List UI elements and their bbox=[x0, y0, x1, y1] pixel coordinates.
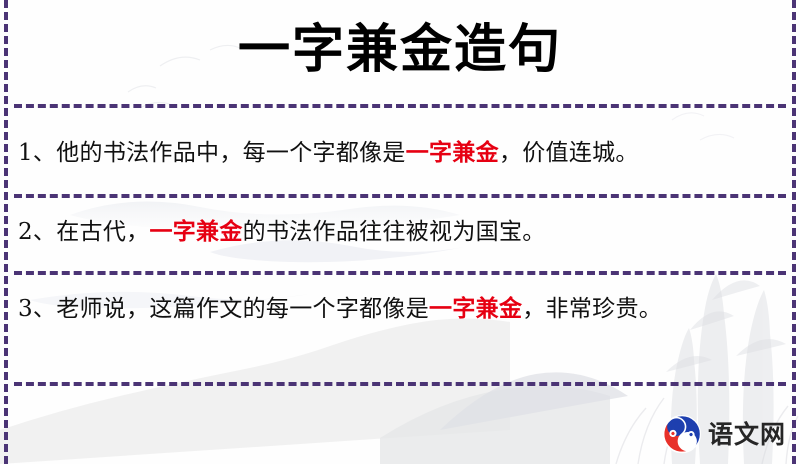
sentence-2-text-before: 在古代， bbox=[56, 219, 149, 245]
divider-3 bbox=[14, 271, 786, 275]
sentence-2-idiom-highlight: 一字兼金 bbox=[149, 218, 242, 245]
sentence-1-text-before: 他的书法作品中，每一个字都像是 bbox=[56, 140, 406, 166]
sentence-1-number: 1、 bbox=[18, 140, 56, 166]
sentence-item-2: 2、在古代，一字兼金的书法作品往往被视为国宝。 bbox=[18, 215, 774, 249]
site-logo-text: 语文网 bbox=[708, 422, 786, 447]
site-logo[interactable]: 语文网 bbox=[662, 414, 786, 454]
divider-1 bbox=[14, 104, 786, 108]
sentence-2-number: 2、 bbox=[18, 219, 56, 245]
divider-2 bbox=[14, 194, 786, 198]
sentence-item-3: 3、老师说，这篇作文的每一个字都像是一字兼金，非常珍贵。 bbox=[18, 292, 774, 326]
taiji-circle-logo-icon bbox=[662, 414, 702, 454]
sentence-2-text-after: 的书法作品往往被视为国宝。 bbox=[243, 219, 546, 245]
sentence-1-text-after: ，价值连城。 bbox=[499, 140, 639, 166]
sentence-3-number: 3、 bbox=[18, 296, 56, 322]
page-title-container: 一字兼金造句 bbox=[0, 22, 800, 78]
sentence-3-text-after: ，非常珍贵。 bbox=[522, 296, 662, 322]
sentence-1-idiom-highlight: 一字兼金 bbox=[406, 139, 499, 166]
sentence-3-text-before: 老师说，这篇作文的每一个字都像是 bbox=[56, 296, 429, 322]
page-title: 一字兼金造句 bbox=[238, 22, 562, 78]
document-page: 一字兼金造句 1、他的书法作品中，每一个字都像是一字兼金，价值连城。 2、在古代… bbox=[0, 0, 800, 464]
sentence-3-idiom-highlight: 一字兼金 bbox=[429, 295, 522, 322]
sentence-item-1: 1、他的书法作品中，每一个字都像是一字兼金，价值连城。 bbox=[18, 136, 774, 170]
divider-4 bbox=[14, 382, 786, 386]
